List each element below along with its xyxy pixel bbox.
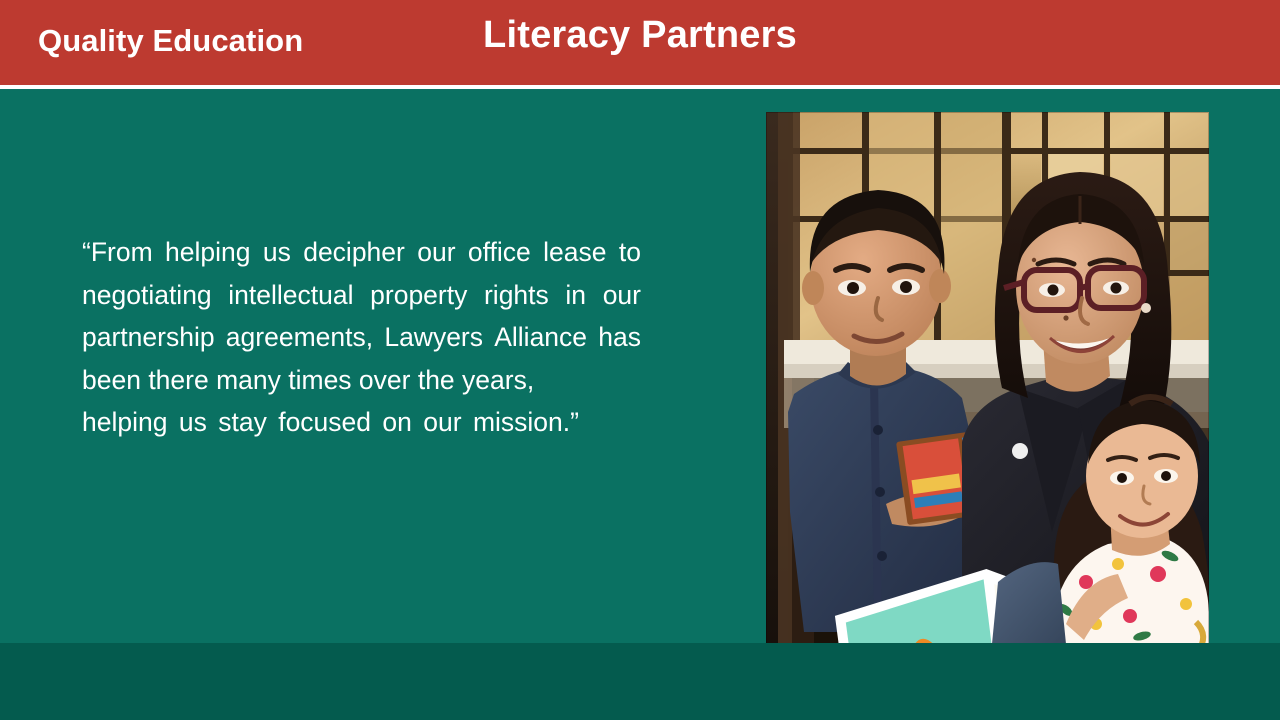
quote-word: our <box>417 231 455 274</box>
quote-word: “From <box>82 231 153 274</box>
quote-word: helping <box>165 231 250 274</box>
quote-word: us <box>179 401 207 444</box>
quote-word: our <box>603 274 641 317</box>
quote-line-2: negotiating intellectual property rights… <box>82 274 641 317</box>
quote-word: intellectual <box>228 274 353 317</box>
quote-word: agreements, <box>226 316 373 359</box>
organization-name: Literacy Partners <box>0 14 1280 57</box>
quote-word: our <box>423 401 461 444</box>
quote-word: property <box>370 274 467 317</box>
presentation-slide: Quality Education “From helping us decip… <box>0 0 1280 720</box>
quote-word: mission.” <box>473 401 579 444</box>
quote-word: office <box>468 231 531 274</box>
quote-word: lease <box>543 231 606 274</box>
photo-family-reading: Silly Fish <box>766 112 1209 644</box>
testimonial-quote: “From helping us decipher our office lea… <box>82 231 641 444</box>
quote-word: has <box>598 316 641 359</box>
quote-word: on <box>382 401 411 444</box>
quote-word: helping <box>82 401 167 444</box>
quote-word: negotiating <box>82 274 212 317</box>
quote-line-3: partnership agreements, Lawyers Alliance… <box>82 316 641 359</box>
quote-line-4: been there many times over the years, <box>82 359 641 402</box>
quote-word: focused <box>278 401 371 444</box>
quote-line-5: helping us stay focused on our mission.” <box>82 401 579 444</box>
quote-word: Alliance <box>494 316 587 359</box>
quote-word: to <box>619 231 641 274</box>
quote-word: in <box>565 274 586 317</box>
quote-word: partnership <box>82 316 215 359</box>
footer-bar <box>0 643 1280 720</box>
quote-line-1: “From helping us decipher our office lea… <box>82 231 641 274</box>
quote-word: Lawyers <box>384 316 483 359</box>
quote-word: stay <box>218 401 267 444</box>
quote-word: us <box>263 231 291 274</box>
quote-word: decipher <box>303 231 405 274</box>
quote-word: rights <box>484 274 549 317</box>
